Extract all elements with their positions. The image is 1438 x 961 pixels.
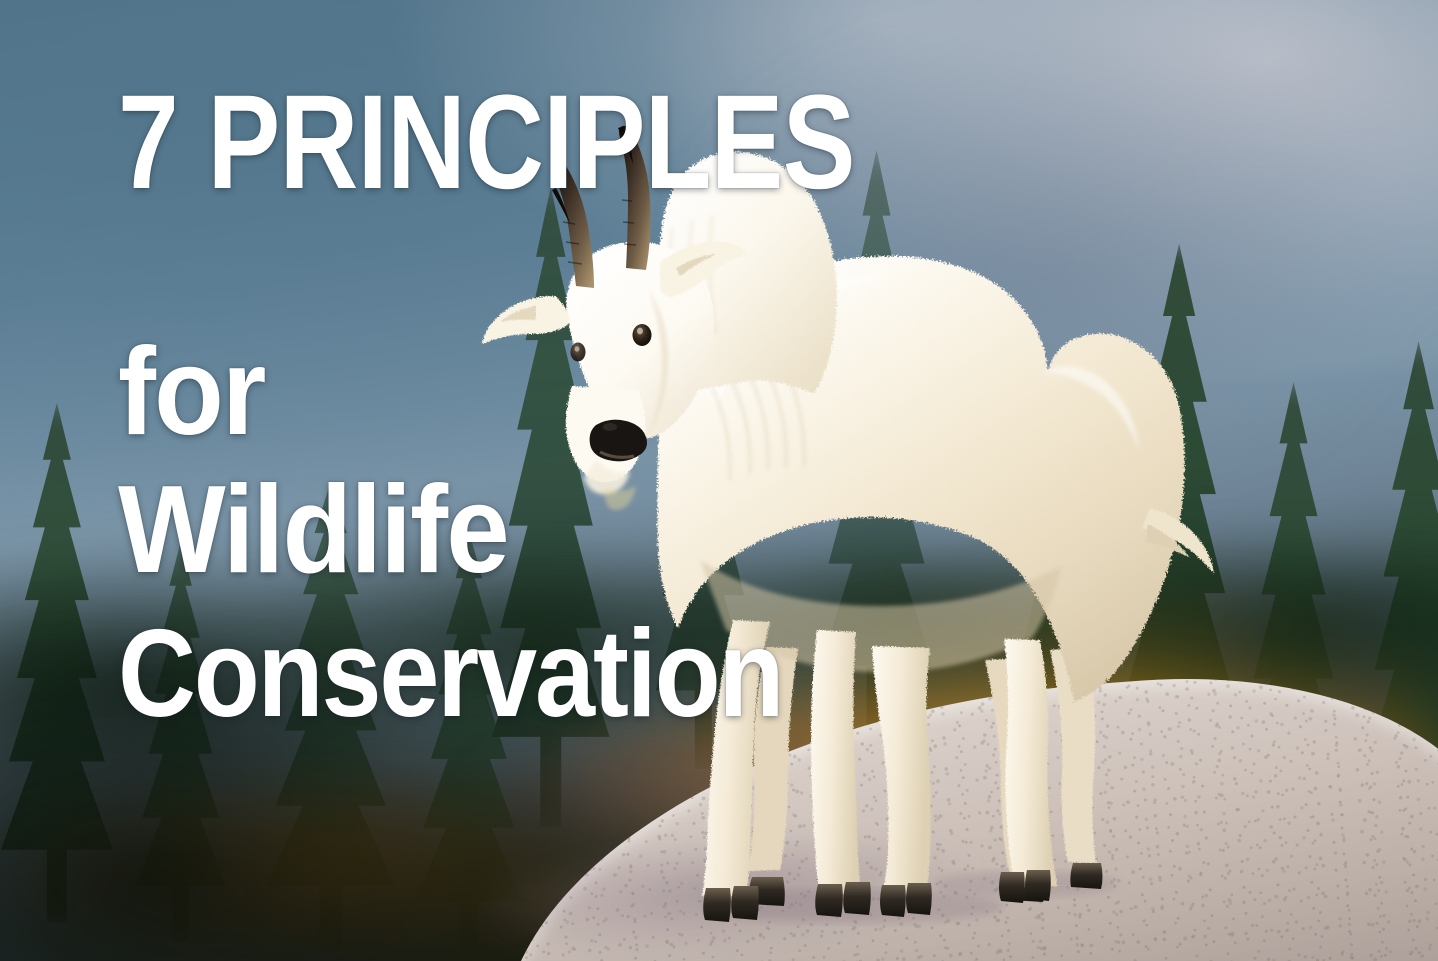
poster-canvas: 7 PRINCIPLES for Wildlife Conservation <box>0 0 1438 961</box>
headline-line-principles: 7 PRINCIPLES <box>118 76 855 210</box>
headline-line-wildlife: Wildlife <box>118 468 508 592</box>
headline-line-for: for <box>118 330 265 454</box>
headline-line-conservation: Conservation <box>118 612 782 736</box>
